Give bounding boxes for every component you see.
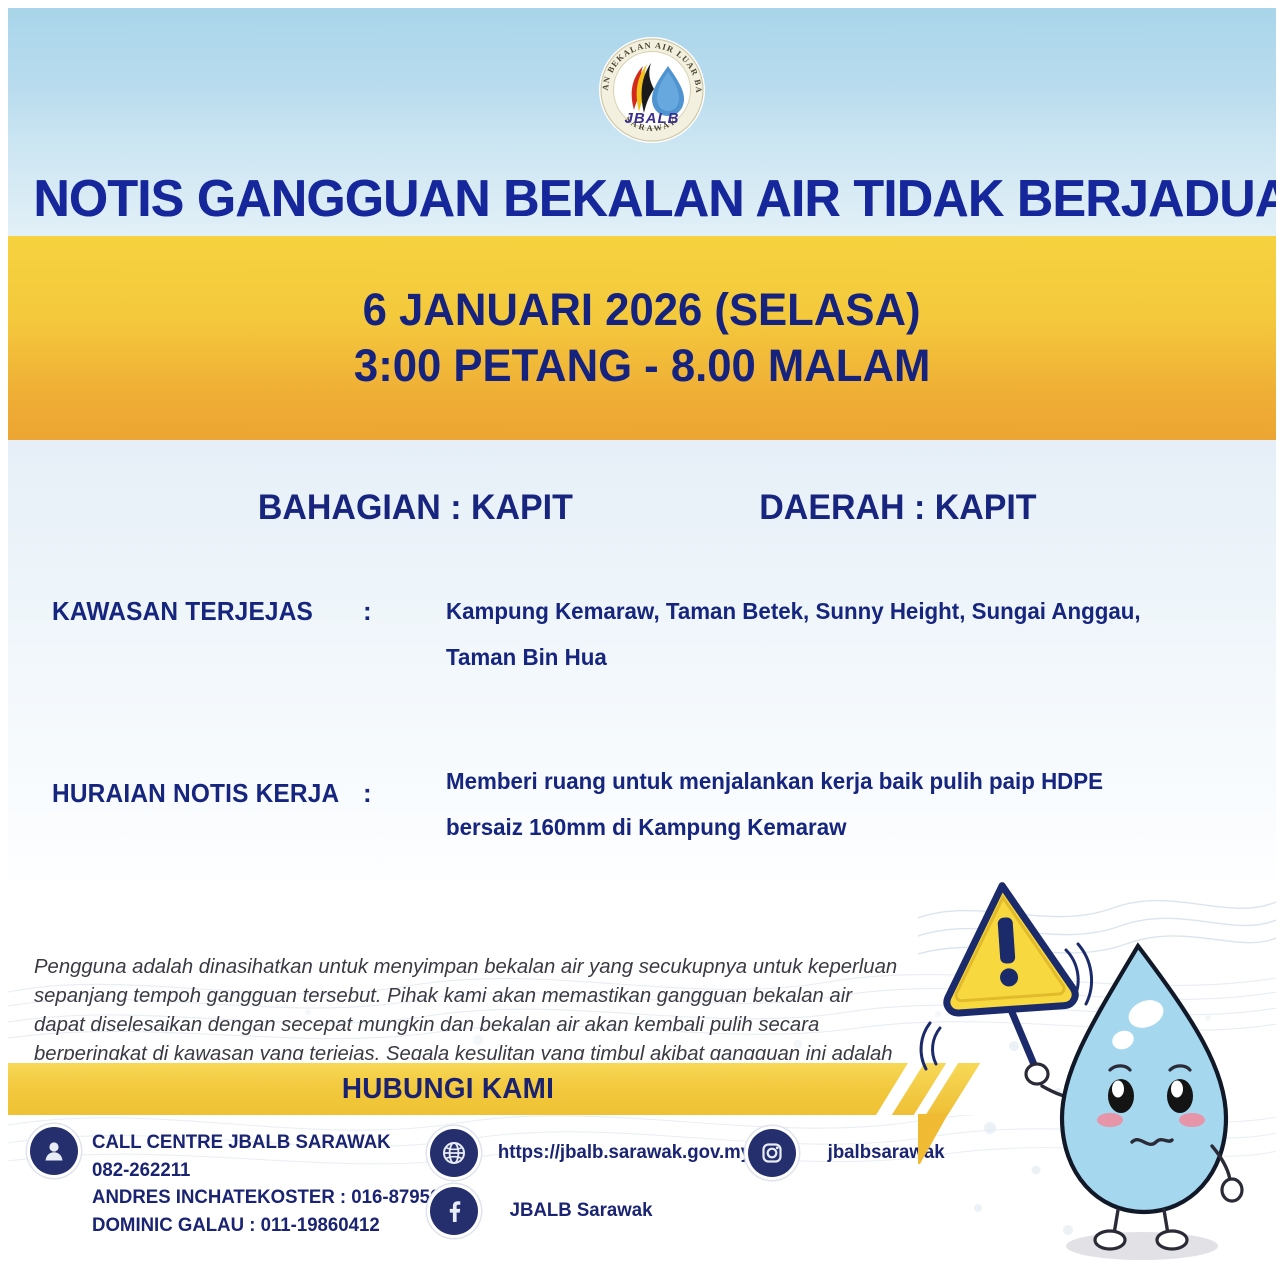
affected-areas-line-2: Taman Bin Hua xyxy=(446,634,1183,680)
notice-body: BAHAGIAN : KAPIT DAERAH : KAPIT KAWASAN … xyxy=(8,440,1276,880)
instagram-handle[interactable]: jbalbsarawak xyxy=(810,1129,945,1164)
district-label: DAERAH : KAPIT xyxy=(760,488,1037,528)
region-row: BAHAGIAN : KAPIT DAERAH : KAPIT xyxy=(8,488,1276,528)
contact-instagram[interactable]: jbalbsarawak xyxy=(748,1129,947,1177)
contact-call-centre[interactable]: CALL CENTRE JBALB SARAWAK 082-262211 AND… xyxy=(30,1127,469,1240)
call-centre-line-1: CALL CENTRE JBALB SARAWAK xyxy=(92,1129,461,1157)
contact-facebook[interactable]: JBALB Sarawak xyxy=(430,1187,656,1235)
logo-wordmark: JBALB xyxy=(624,110,679,127)
water-disruption-notice-poster: JABATAN BEKALAN AIR LUAR BANDAR SARAWAK … xyxy=(0,0,1284,1287)
call-centre-lines: CALL CENTRE JBALB SARAWAK 082-262211 AND… xyxy=(92,1127,461,1240)
date-time-banner: 6 JANUARI 2026 (SELASA) 3:00 PETANG - 8.… xyxy=(8,236,1276,440)
contact-bar-wrapper: HUBUNGI KAMI xyxy=(8,1063,1276,1115)
affected-areas-value: Kampung Kemaraw, Taman Betek, Sunny Heig… xyxy=(446,588,1183,680)
work-description-label: HURAIAN NOTIS KERJA xyxy=(52,778,339,809)
call-centre-line-2: 082-262211 xyxy=(92,1157,461,1185)
header-banner: JABATAN BEKALAN AIR LUAR BANDAR SARAWAK … xyxy=(8,8,1276,236)
contact-website[interactable]: https://jbalb.sarawak.gov.my/ xyxy=(430,1129,762,1177)
affected-areas-line-1: Kampung Kemaraw, Taman Betek, Sunny Heig… xyxy=(446,588,1183,634)
affected-areas-colon: : xyxy=(363,596,372,627)
contact-bar-title: HUBUNGI KAMI xyxy=(26,1063,871,1115)
call-centre-line-3: ANDRES INCHATEKOSTER : 016-8795047 xyxy=(92,1184,461,1212)
work-description-line-2: bersaiz 160mm di Kampung Kemaraw xyxy=(446,804,1183,850)
facebook-handle[interactable]: JBALB Sarawak xyxy=(492,1187,652,1222)
affected-areas-label: KAWASAN TERJEJAS xyxy=(52,596,313,627)
facebook-icon xyxy=(430,1187,478,1235)
page-title: NOTIS GANGGUAN BEKALAN AIR TIDAK BERJADU… xyxy=(33,173,1250,225)
jbalb-logo: JABATAN BEKALAN AIR LUAR BANDAR SARAWAK … xyxy=(596,30,708,148)
contact-footer: CALL CENTRE JBALB SARAWAK 082-262211 AND… xyxy=(8,1115,1276,1279)
advisory-paragraph: Pengguna adalah dinasihatkan untuk menyi… xyxy=(34,952,905,1060)
notice-time: 3:00 PETANG - 8.00 MALAM xyxy=(354,341,930,391)
work-description-colon: : xyxy=(363,778,372,809)
instagram-icon xyxy=(748,1129,796,1177)
notice-date: 6 JANUARI 2026 (SELASA) xyxy=(363,285,921,335)
work-description-line-1: Memberi ruang untuk menjalankan kerja ba… xyxy=(446,758,1183,804)
person-icon xyxy=(30,1127,78,1175)
call-centre-line-4: DOMINIC GALAU : 011-19860412 xyxy=(92,1212,461,1240)
work-description-value: Memberi ruang untuk menjalankan kerja ba… xyxy=(446,758,1183,850)
globe-icon xyxy=(430,1129,478,1177)
website-url[interactable]: https://jbalb.sarawak.gov.my/ xyxy=(492,1129,756,1164)
division-label: BAHAGIAN : KAPIT xyxy=(258,488,573,528)
advisory-section: Pengguna adalah dinasihatkan untuk menyi… xyxy=(8,880,1276,1060)
